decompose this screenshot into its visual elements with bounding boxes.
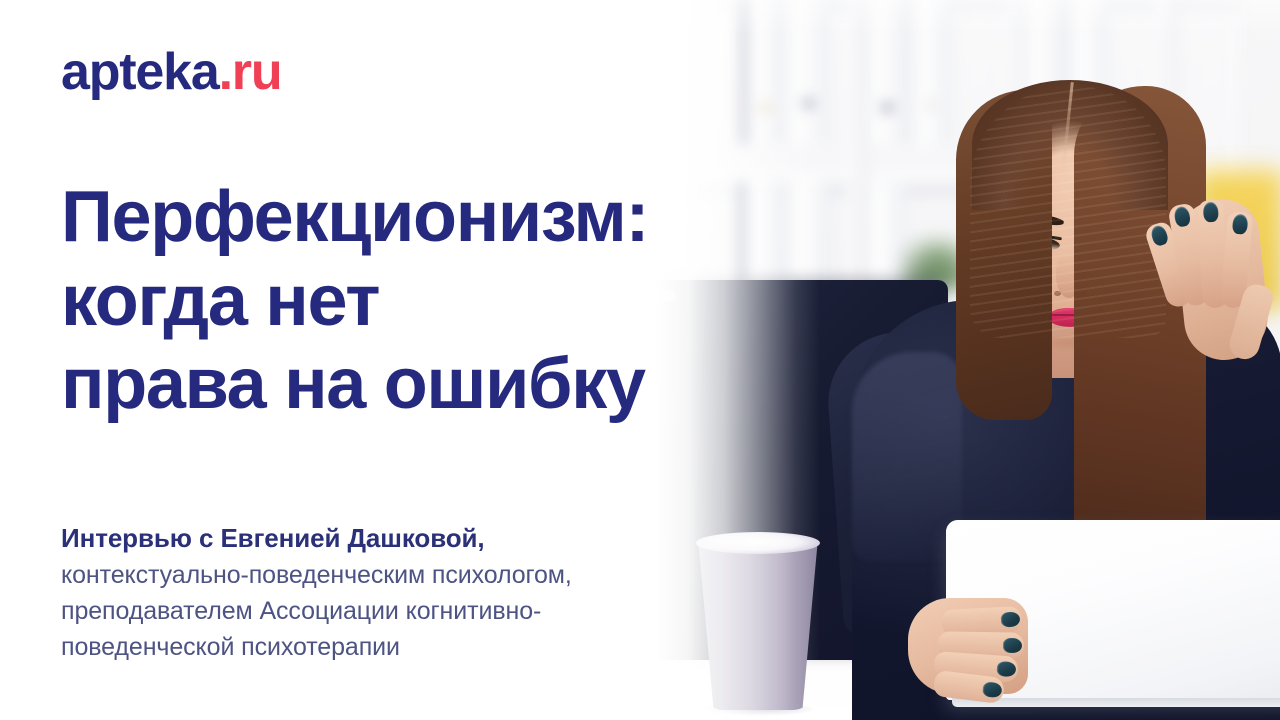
page-title: Перфекционизм: когда нет права на ошибку	[61, 176, 701, 427]
interview-credit-line-3: поведенческой психотерапии	[61, 629, 721, 665]
subtitle-block: Интервью с Евгенией Дашковой, контекстуа…	[61, 521, 721, 666]
presentation-slide: apteka.ru Перфекционизм: когда нет права…	[0, 0, 1280, 720]
headline-line-2: когда нет	[61, 260, 701, 344]
headline-line-1: Перфекционизм:	[61, 176, 701, 260]
hand-holding-tablet	[908, 578, 1068, 698]
interview-credit-line-1: контекстуально-поведенческим психологом,	[61, 557, 721, 593]
logo-word: apteka	[61, 43, 219, 101]
hand-at-temple	[1154, 180, 1266, 370]
interview-credit-line-2: преподавателем Ассоциации когнитивно-	[61, 593, 721, 629]
logo-tld: .ru	[219, 43, 282, 101]
headline-line-3: права на ошибку	[61, 343, 701, 427]
woman-head	[970, 86, 1166, 338]
interview-credit-lead: Интервью с Евгенией Дашковой,	[61, 521, 721, 557]
apteka-ru-logo[interactable]: apteka.ru	[61, 46, 281, 98]
